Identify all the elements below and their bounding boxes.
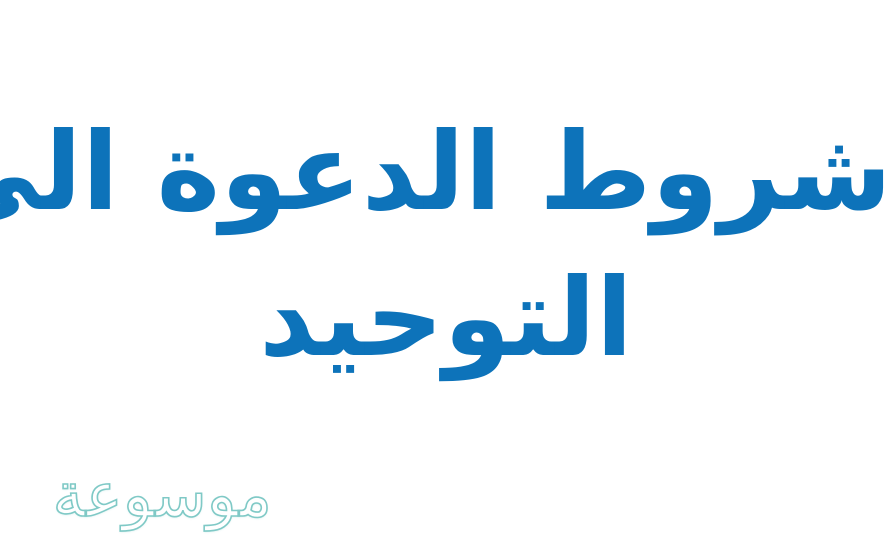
page-title: شروط الدعوة الى التوحيد [0,96,892,390]
brand-logo-label: موسوعة [12,462,272,527]
poster-canvas: شروط الدعوة الى التوحيد موسوعة [0,0,892,554]
page-title-line-2: التوحيد [0,249,892,389]
brand-logo[interactable]: موسوعة [12,462,272,546]
page-title-line-1: شروط الدعوة الى [0,96,892,249]
